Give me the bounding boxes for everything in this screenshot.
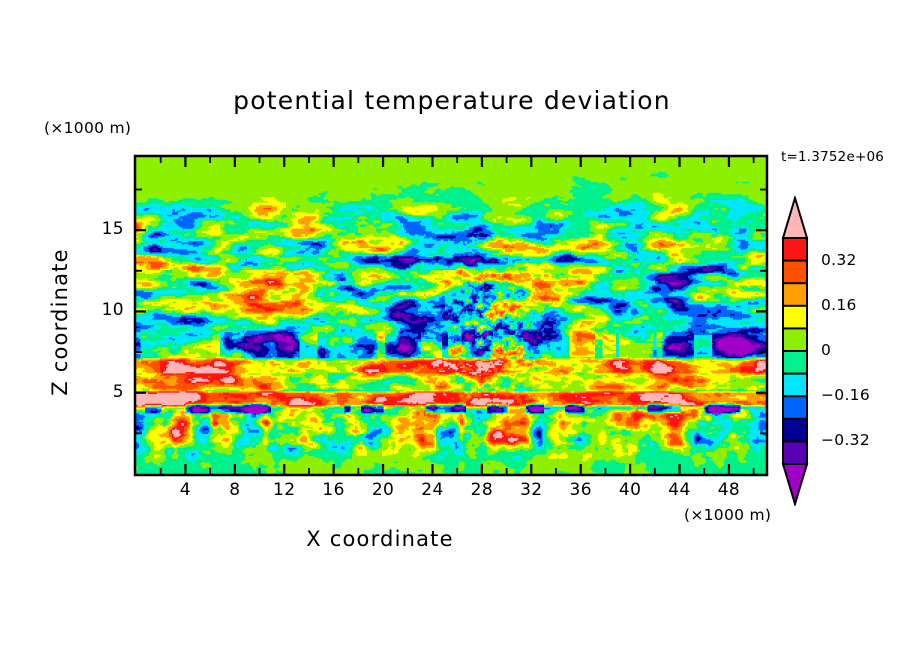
colorbar	[781, 196, 809, 506]
x-axis-tick-label: 24	[410, 480, 454, 500]
page-title: potential temperature deviation	[0, 86, 904, 115]
x-axis-tick-label: 12	[262, 480, 306, 500]
y-axis-tick-label: 10	[84, 300, 124, 320]
contour-plot-canvas	[136, 157, 766, 474]
x-axis-tick-label: 32	[509, 480, 553, 500]
colorbar-tick-label: 0.32	[821, 251, 857, 269]
y-axis-title: Z coordinate	[48, 222, 72, 422]
x-axis-tick-label: 4	[163, 480, 207, 500]
x-axis-tick-label: 36	[559, 480, 603, 500]
colorbar-tick-label: −0.32	[821, 431, 870, 449]
x-axis-unit-label: (×1000 m)	[684, 506, 771, 524]
x-axis-tick-label: 8	[213, 480, 257, 500]
x-axis-tick-label: 48	[707, 480, 751, 500]
x-axis-tick-label: 28	[460, 480, 504, 500]
timestamp-annotation: t=1.3752e+06	[781, 149, 884, 165]
y-axis-unit-label: (×1000 m)	[44, 119, 131, 137]
colorbar-tick-label: 0	[821, 341, 831, 359]
y-axis-tick-label: 5	[84, 382, 124, 402]
x-axis-tick-label: 20	[361, 480, 405, 500]
y-axis-tick-label: 15	[84, 219, 124, 239]
colorbar-tick-label: −0.16	[821, 386, 870, 404]
x-axis-tick-label: 44	[658, 480, 702, 500]
x-axis-tick-label: 40	[608, 480, 652, 500]
colorbar-tick-label: 0.16	[821, 296, 857, 314]
x-axis-tick-label: 16	[312, 480, 356, 500]
x-axis-title: X coordinate	[0, 527, 760, 551]
